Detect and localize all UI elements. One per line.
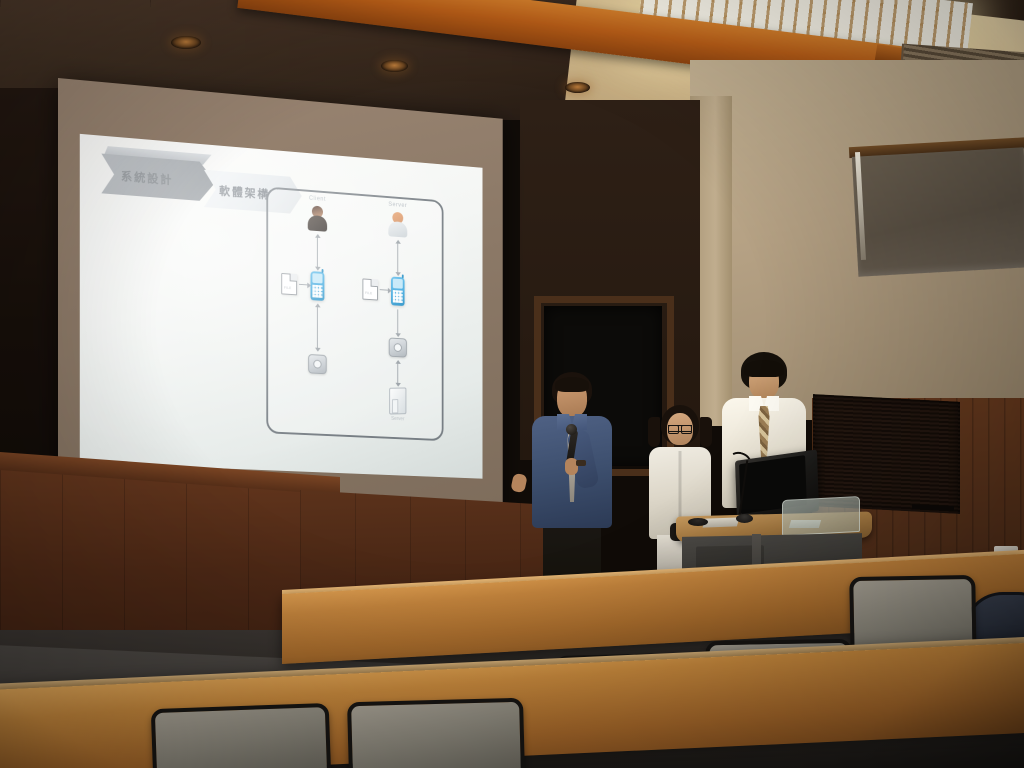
arrow-doc-to-phone — [380, 289, 391, 291]
microphone-base — [736, 514, 753, 523]
podium-papers — [703, 517, 740, 527]
chair-1[interactable] — [151, 703, 331, 768]
projection-screen: 系統設計 軟體架構 Client — [58, 78, 503, 527]
acrylic-panel — [782, 496, 860, 536]
document-label: FILE — [284, 286, 291, 290]
gateway-device-icon — [389, 337, 407, 357]
phone-antenna — [401, 274, 403, 278]
chair-2[interactable] — [347, 698, 525, 768]
hair-fringe — [744, 360, 784, 377]
hair-side-right — [700, 417, 712, 447]
arrow-phone-to-gateway — [397, 309, 398, 336]
lecture-hall-scene: 系統設計 軟體架構 Client — [0, 0, 1024, 768]
downlight-icon — [565, 82, 590, 93]
server-caption: Server — [391, 416, 404, 422]
acoustic-panel — [813, 394, 960, 514]
phone-antenna — [321, 269, 323, 273]
microphone-head — [566, 424, 577, 435]
document-label: FILE — [365, 291, 372, 295]
eyeglasses-icon — [668, 425, 692, 432]
mobile-phone-icon — [391, 277, 405, 306]
arrow-avatar-to-phone — [317, 235, 318, 270]
client-column: Client — [276, 189, 359, 435]
arrow-doc-to-phone — [299, 284, 310, 286]
avatar-body — [308, 215, 327, 232]
downlight-icon — [381, 60, 408, 72]
phone-keypad — [313, 285, 323, 298]
projected-slide: 系統設計 軟體架構 Client — [80, 134, 483, 479]
server-column-title: Server — [357, 199, 438, 211]
wristwatch — [576, 460, 586, 466]
client-column-title: Client — [276, 193, 359, 205]
architecture-diagram-panel: Client — [266, 186, 443, 441]
document-icon: FILE — [362, 278, 377, 300]
phone-screen — [312, 273, 323, 283]
hair-fringe — [555, 377, 589, 392]
gateway-device-icon — [308, 354, 326, 374]
arrow-phone-to-gateway — [317, 304, 318, 350]
hair-side-left — [648, 417, 660, 447]
downlight-icon — [171, 36, 201, 49]
phone-keypad — [393, 290, 403, 303]
window-roller-blind — [852, 147, 1024, 276]
server-icon — [389, 387, 406, 414]
microphone-base-secondary — [688, 518, 708, 526]
mobile-phone-icon — [311, 271, 325, 301]
user-avatar-icon — [388, 211, 408, 237]
left-hand — [510, 473, 527, 494]
arrow-avatar-to-phone — [397, 241, 398, 275]
avatar-body — [388, 221, 407, 238]
arrow-gateway-to-server — [397, 361, 398, 386]
document-icon: FILE — [281, 273, 297, 295]
user-avatar-icon — [307, 205, 327, 232]
server-column: Server — [357, 196, 438, 439]
phone-screen — [393, 279, 403, 289]
